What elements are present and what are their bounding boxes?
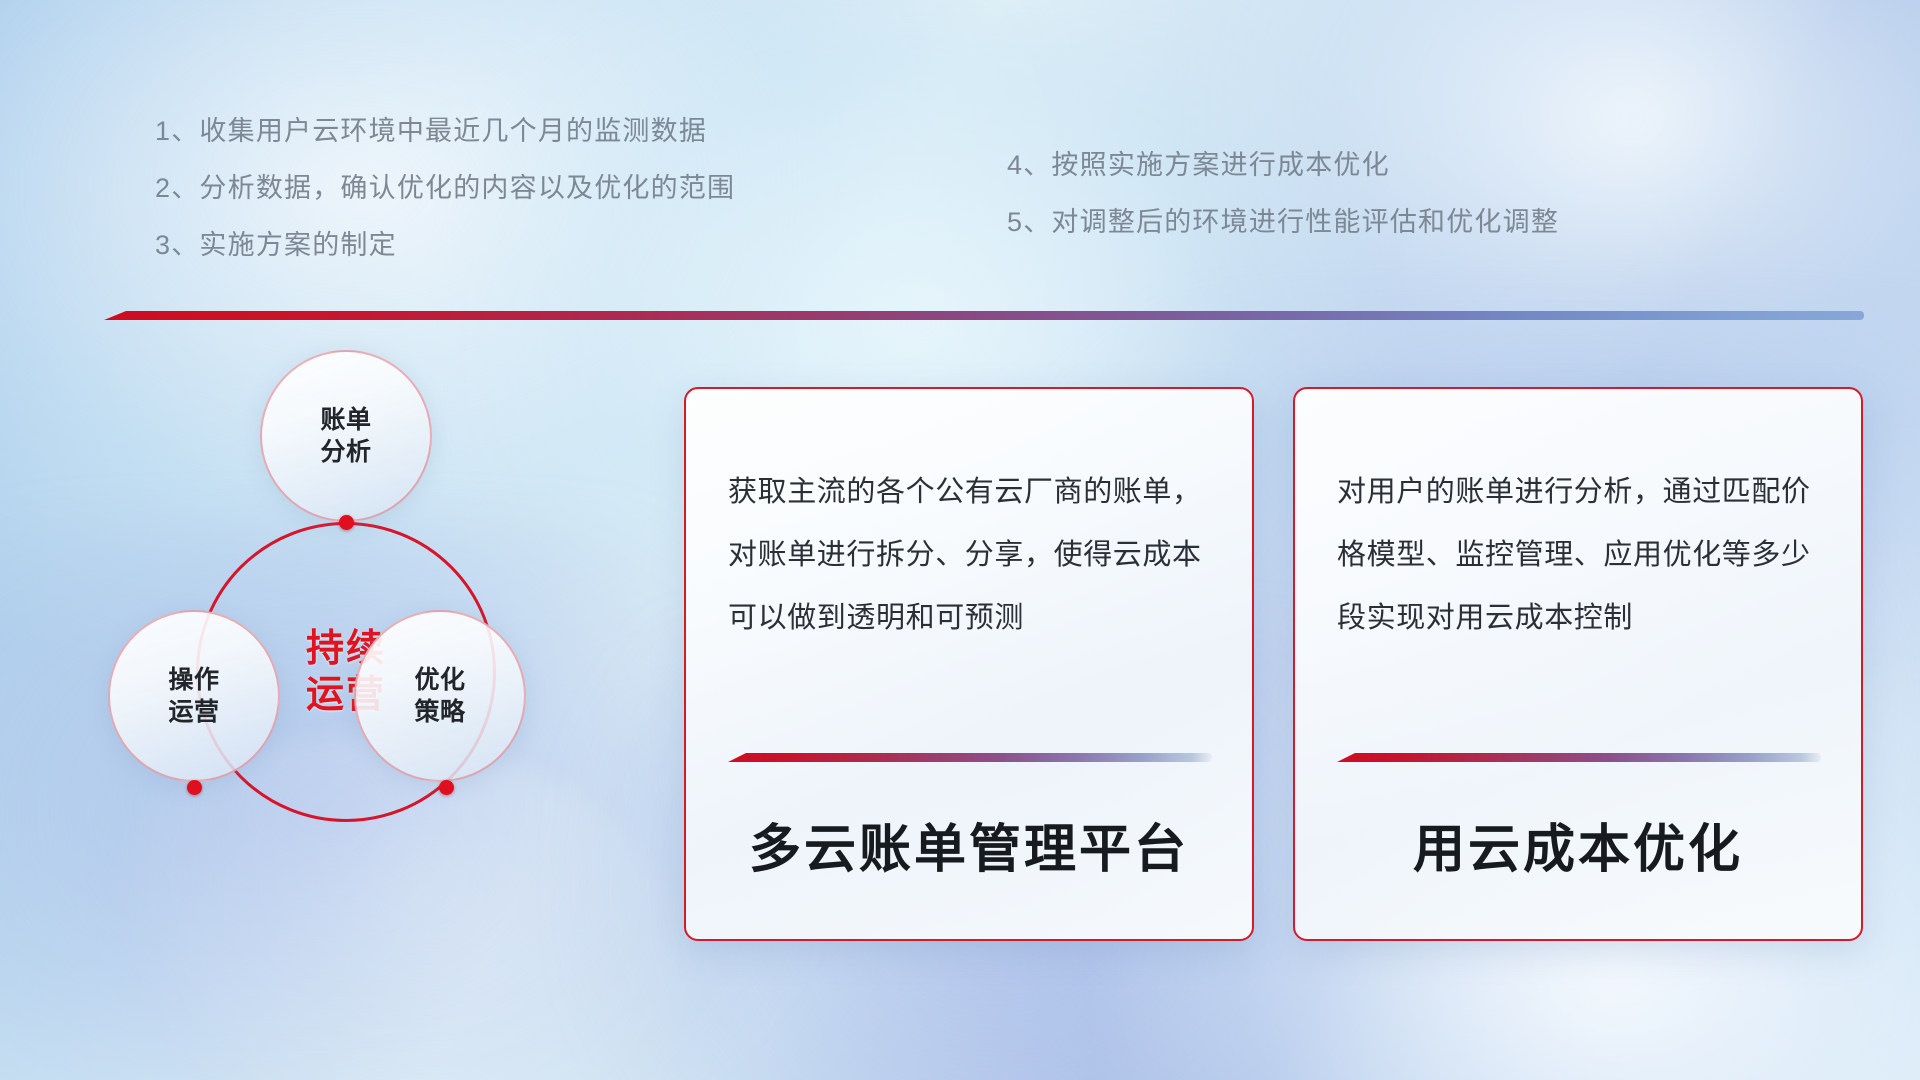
section-divider-line [104, 311, 1864, 320]
process-step-1: 1、收集用户云环境中最近几个月的监测数据 [155, 118, 735, 145]
feature-card-1-title: 多云账单管理平台 [686, 807, 1252, 882]
node-bl-line1: 操作 [168, 666, 219, 694]
process-steps-left-column: 1、收集用户云环境中最近几个月的监测数据 2、分析数据，确认优化的内容以及优化的… [155, 118, 735, 259]
diagram-connector-dot-bottom-left [187, 780, 202, 795]
node-top-line2: 分析 [320, 438, 371, 466]
diagram-node-bill-analysis-label: 账单 分析 [320, 404, 371, 468]
feature-card-multi-cloud-billing[interactable]: 获取主流的各个公有云厂商的账单，对账单进行拆分、分享，使得云成本可以做到透明和可… [684, 387, 1254, 941]
node-br-line2: 策略 [414, 698, 465, 726]
diagram-node-optimization-strategy[interactable]: 优化 策略 [354, 610, 526, 782]
node-br-line1: 优化 [414, 666, 465, 694]
process-step-2: 2、分析数据，确认优化的内容以及优化的范围 [155, 175, 735, 202]
slide-canvas: 1、收集用户云环境中最近几个月的监测数据 2、分析数据，确认优化的内容以及优化的… [0, 0, 1920, 1080]
process-step-3: 3、实施方案的制定 [155, 232, 735, 259]
feature-card-2-title: 用云成本优化 [1295, 807, 1861, 882]
node-bl-line2: 运营 [168, 698, 219, 726]
diagram-node-bill-analysis[interactable]: 账单 分析 [260, 350, 432, 522]
node-top-line1: 账单 [320, 406, 371, 434]
diagram-connector-dot-top [339, 515, 354, 530]
feature-card-2-body: 对用户的账单进行分析，通过匹配价格模型、监控管理、应用优化等多少段实现对用云成本… [1337, 461, 1819, 650]
diagram-connector-dot-bottom-right [439, 780, 454, 795]
feature-card-2-rule [1337, 753, 1821, 762]
feature-card-1-rule [728, 753, 1212, 762]
diagram-node-operation[interactable]: 操作 运营 [108, 610, 280, 782]
process-step-4: 4、按照实施方案进行成本优化 [1007, 152, 1559, 179]
feature-card-1-body: 获取主流的各个公有云厂商的账单，对账单进行拆分、分享，使得云成本可以做到透明和可… [728, 461, 1210, 650]
diagram-node-optimization-strategy-label: 优化 策略 [414, 664, 465, 728]
feature-card-cloud-cost-optimization[interactable]: 对用户的账单进行分析，通过匹配价格模型、监控管理、应用优化等多少段实现对用云成本… [1293, 387, 1863, 941]
continuous-operation-diagram: 持续 运营 账单 分析 操作 运营 优化 策略 [92, 340, 562, 940]
diagram-node-operation-label: 操作 运营 [168, 664, 219, 728]
process-steps-right-column: 4、按照实施方案进行成本优化 5、对调整后的环境进行性能评估和优化调整 [1007, 152, 1559, 236]
process-step-5: 5、对调整后的环境进行性能评估和优化调整 [1007, 209, 1559, 236]
